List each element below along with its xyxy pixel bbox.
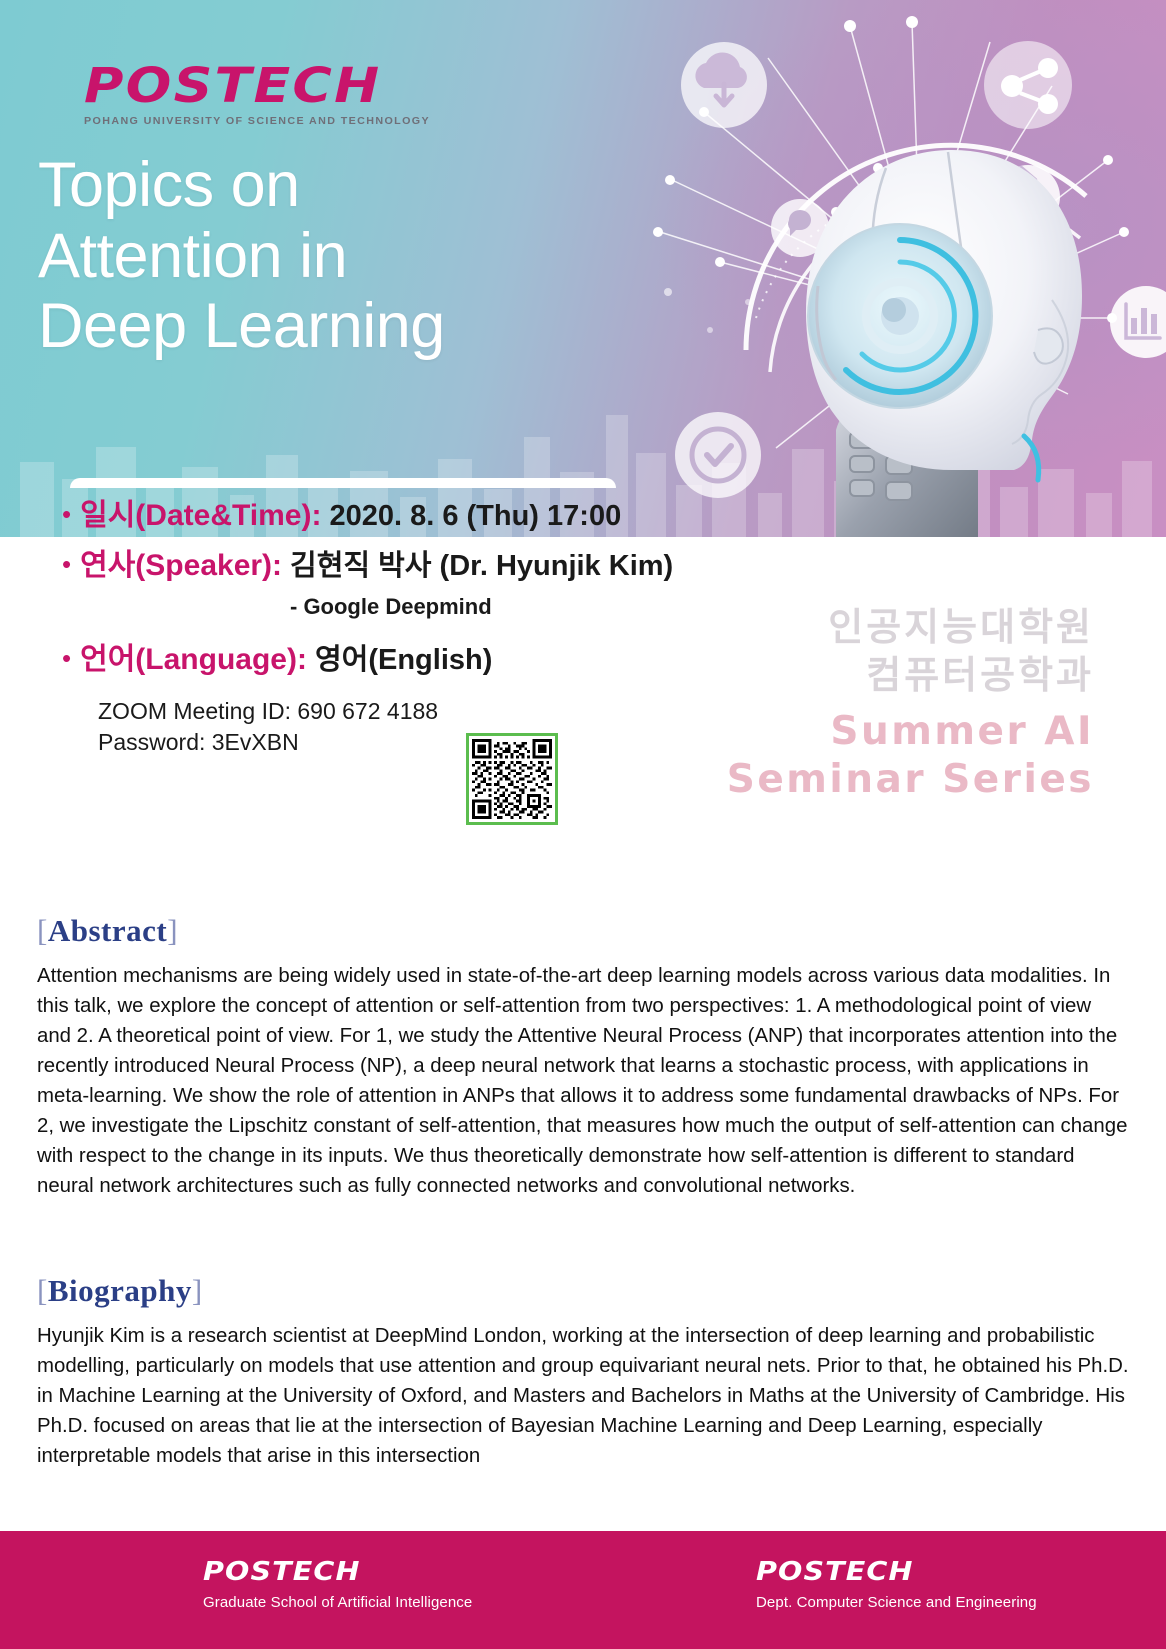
detail-row-speaker: • 연사(Speaker): 김현직 박사 (Dr. Hyunjik Kim): [62, 540, 762, 584]
info-card: [70, 478, 616, 488]
seminar-details: • 일시(Date&Time): 2020. 8. 6 (Thu) 17:00 …: [62, 490, 762, 758]
cloud-download-icon: [681, 42, 767, 128]
title-line-2: Attention in: [38, 221, 445, 292]
biography-heading-text: Biography: [48, 1273, 192, 1308]
robot-ear-module: [808, 224, 992, 408]
biography-bracket-close: ]: [192, 1273, 203, 1308]
footer-right-logo: POSTECH: [756, 1559, 1065, 1585]
series-branding: 인공지능대학원 컴퓨터공학과 Summer AI Seminar Series: [727, 605, 1094, 803]
abstract-bracket-open: [: [37, 913, 48, 948]
biography-body: Hyunjik Kim is a research scientist at D…: [37, 1322, 1129, 1472]
date-value: 2020. 8. 6 (Thu) 17:00: [329, 500, 621, 533]
dept-korean-line-2: 컴퓨터공학과: [727, 653, 1094, 701]
zoom-access-info: ZOOM Meeting ID: 690 672 4188 Password: …: [98, 696, 762, 758]
zoom-meeting-id: ZOOM Meeting ID: 690 672 4188: [98, 696, 762, 727]
abstract-bracket-close: ]: [167, 913, 178, 948]
qr-code-image: [472, 739, 552, 819]
abstract-heading-text: Abstract: [48, 913, 167, 948]
abstract-heading: [Abstract]: [37, 913, 178, 949]
bar-chart-icon: [1110, 286, 1166, 358]
bullet-icon: •: [62, 551, 71, 577]
abstract-body: Attention mechanisms are being widely us…: [37, 962, 1129, 1202]
page-title: Topics on Attention in Deep Learning: [38, 150, 445, 362]
bullet-icon: •: [62, 501, 71, 527]
series-english-line-1: Summer AI: [727, 708, 1094, 756]
share-icon: [984, 41, 1072, 129]
footer-left-subtitle: Graduate School of Artificial Intelligen…: [203, 1594, 472, 1611]
biography-heading: [Biography]: [37, 1273, 203, 1309]
footer-left-block: POSTECH Graduate School of Artificial In…: [203, 1559, 472, 1611]
speaker-affiliation: - Google Deepmind: [290, 594, 762, 620]
ai-robot-illustration: [600, 0, 1166, 537]
postech-wordmark: POSTECH: [84, 62, 464, 110]
robot-head: [806, 150, 1082, 537]
speaker-label: 연사(Speaker):: [80, 540, 282, 584]
dept-korean: 인공지능대학원 컴퓨터공학과: [727, 605, 1094, 700]
series-english: Summer AI Seminar Series: [727, 708, 1094, 803]
footer-bar: POSTECH Graduate School of Artificial In…: [0, 1531, 1166, 1649]
title-line-1: Topics on: [38, 150, 445, 221]
poster-root: POSTECH POHANG UNIVERSITY OF SCIENCE AND…: [0, 0, 1166, 1649]
qr-code[interactable]: [466, 733, 558, 825]
bullet-icon: •: [62, 645, 71, 671]
date-label: 일시(Date&Time):: [80, 490, 321, 534]
detail-row-language: • 언어(Language): 영어(English): [62, 634, 762, 678]
postech-logo: POSTECH POHANG UNIVERSITY OF SCIENCE AND…: [84, 62, 423, 127]
footer-right-block: POSTECH Dept. Computer Science and Engin…: [756, 1559, 1037, 1611]
postech-tagline: POHANG UNIVERSITY OF SCIENCE AND TECHNOL…: [84, 115, 430, 127]
speaker-value: 김현직 박사 (Dr. Hyunjik Kim): [290, 542, 673, 584]
check-circle-icon: [675, 412, 761, 498]
biography-bracket-open: [: [37, 1273, 48, 1308]
title-line-3: Deep Learning: [38, 291, 445, 362]
language-label: 언어(Language):: [80, 634, 307, 678]
hero-banner: POSTECH POHANG UNIVERSITY OF SCIENCE AND…: [0, 0, 1166, 537]
detail-row-date: • 일시(Date&Time): 2020. 8. 6 (Thu) 17:00: [62, 490, 762, 534]
dept-korean-line-1: 인공지능대학원: [727, 605, 1094, 653]
series-english-line-2: Seminar Series: [727, 756, 1094, 804]
language-value: 영어(English): [315, 636, 492, 678]
footer-left-logo: POSTECH: [203, 1559, 499, 1585]
zoom-password: Password: 3EvXBN: [98, 727, 762, 758]
footer-right-subtitle: Dept. Computer Science and Engineering: [756, 1594, 1037, 1611]
